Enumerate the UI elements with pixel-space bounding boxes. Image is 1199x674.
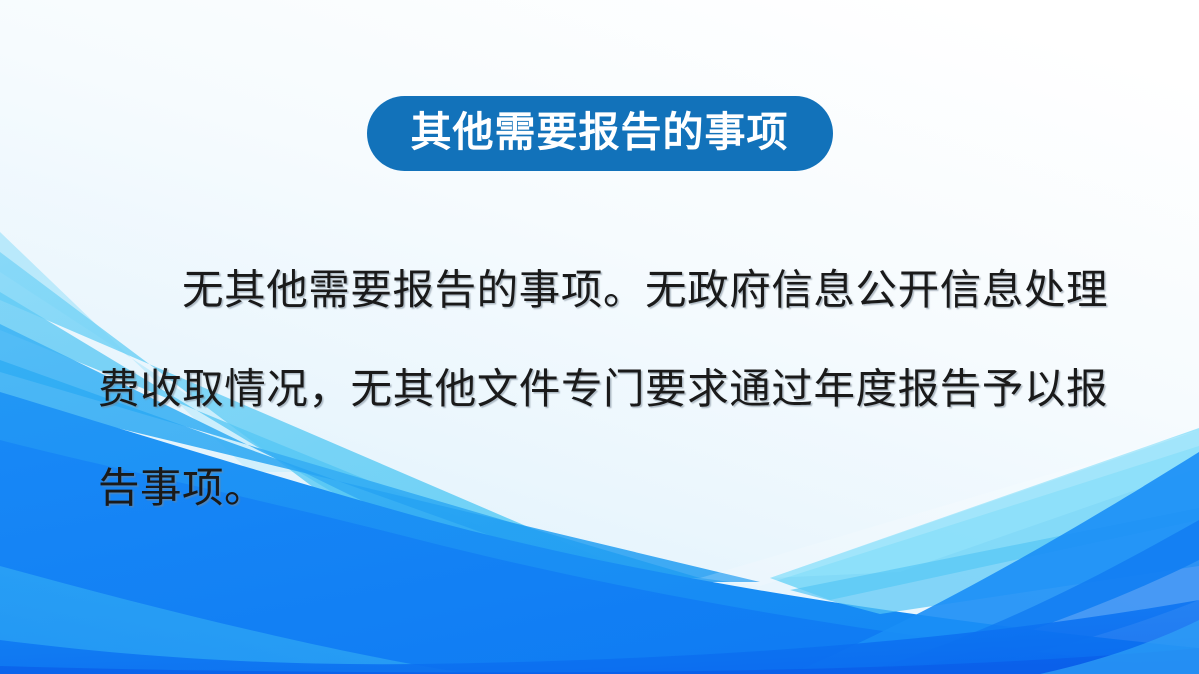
slide-title-container: 其他需要报告的事项 — [0, 96, 1199, 171]
body-paragraph: 无其他需要报告的事项。无政府信息公开信息处理费收取情况，无其他文件专门要求通过年… — [98, 240, 1108, 537]
presentation-slide: 其他需要报告的事项 无其他需要报告的事项。无政府信息公开信息处理费收取情况，无其… — [0, 0, 1199, 674]
page-title: 其他需要报告的事项 — [367, 96, 833, 171]
slide-body-container: 无其他需要报告的事项。无政府信息公开信息处理费收取情况，无其他文件专门要求通过年… — [98, 240, 1108, 537]
